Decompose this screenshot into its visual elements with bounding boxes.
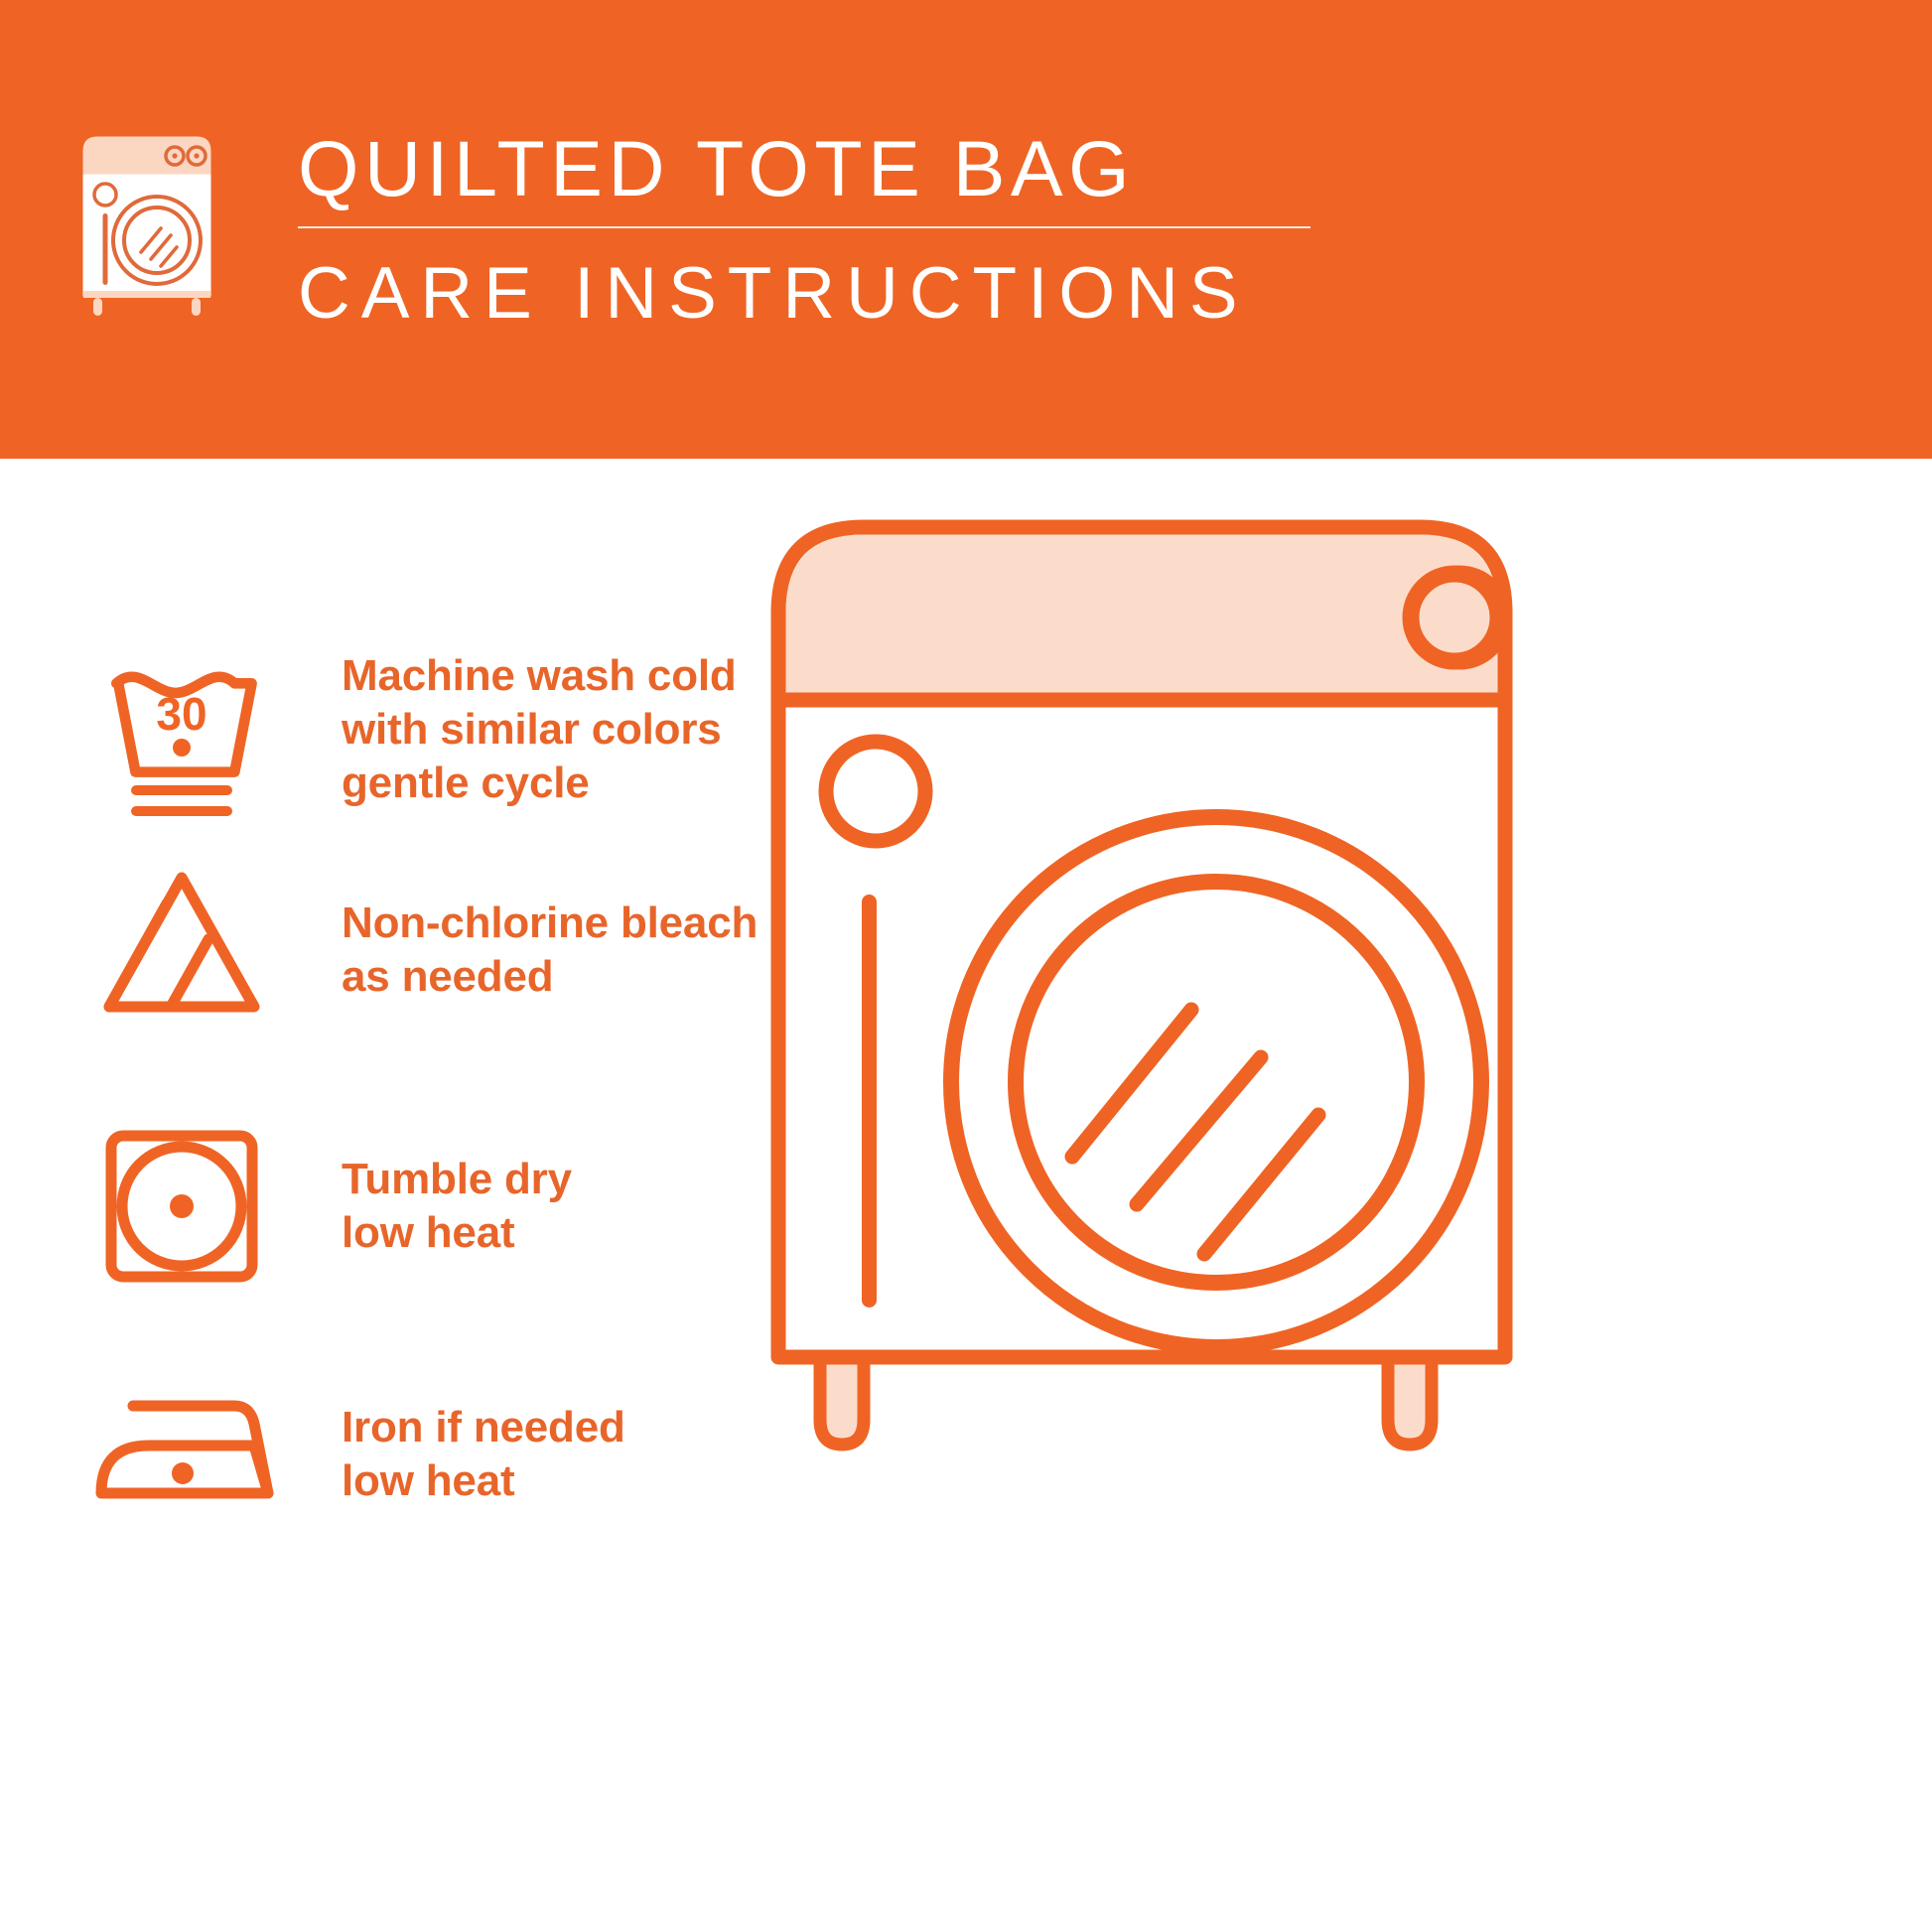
header-content: QUILTED TOTE BAG CARE INSTRUCTIONS bbox=[77, 127, 1309, 345]
page-title: QUILTED TOTE BAG bbox=[298, 127, 1311, 226]
bleach-triangle-striped-icon bbox=[87, 856, 276, 1044]
large-washing-machine-illustration bbox=[764, 501, 1519, 1494]
vertical-handle-bar bbox=[862, 895, 877, 1308]
header-banner: QUILTED TOTE BAG CARE INSTRUCTIONS bbox=[0, 0, 1932, 459]
instructions-list: 30 Machine wash cold with similar colors… bbox=[0, 459, 894, 1932]
tumble-dry-low-icon bbox=[87, 1112, 276, 1301]
instruction-label-machine-wash: Machine wash cold with similar colors ge… bbox=[342, 649, 737, 810]
instruction-label-iron: Iron if needed low heat bbox=[342, 1401, 625, 1508]
instruction-row-tumble-dry: Tumble dry low heat bbox=[87, 1112, 872, 1301]
header-text-block: QUILTED TOTE BAG CARE INSTRUCTIONS bbox=[298, 127, 1311, 342]
instruction-label-bleach: Non-chlorine bleach as needed bbox=[342, 897, 758, 1004]
page-subtitle: CARE INSTRUCTIONS bbox=[298, 234, 1311, 342]
header-divider bbox=[298, 226, 1311, 228]
machine-legs bbox=[820, 1357, 1432, 1445]
control-knobs bbox=[1411, 574, 1503, 661]
svg-text:30: 30 bbox=[156, 688, 207, 740]
instruction-row-iron: Iron if needed low heat bbox=[87, 1360, 872, 1549]
instruction-row-bleach: Non-chlorine bleach as needed bbox=[87, 856, 872, 1044]
washing-machine-icon bbox=[77, 129, 216, 318]
iron-low-heat-icon bbox=[87, 1360, 276, 1549]
instruction-row-machine-wash: 30 Machine wash cold with similar colors… bbox=[87, 635, 872, 824]
control-panel bbox=[786, 535, 1498, 701]
wash-tub-30-gentle-icon: 30 bbox=[87, 635, 276, 824]
instruction-label-tumble-dry: Tumble dry low heat bbox=[342, 1153, 572, 1260]
